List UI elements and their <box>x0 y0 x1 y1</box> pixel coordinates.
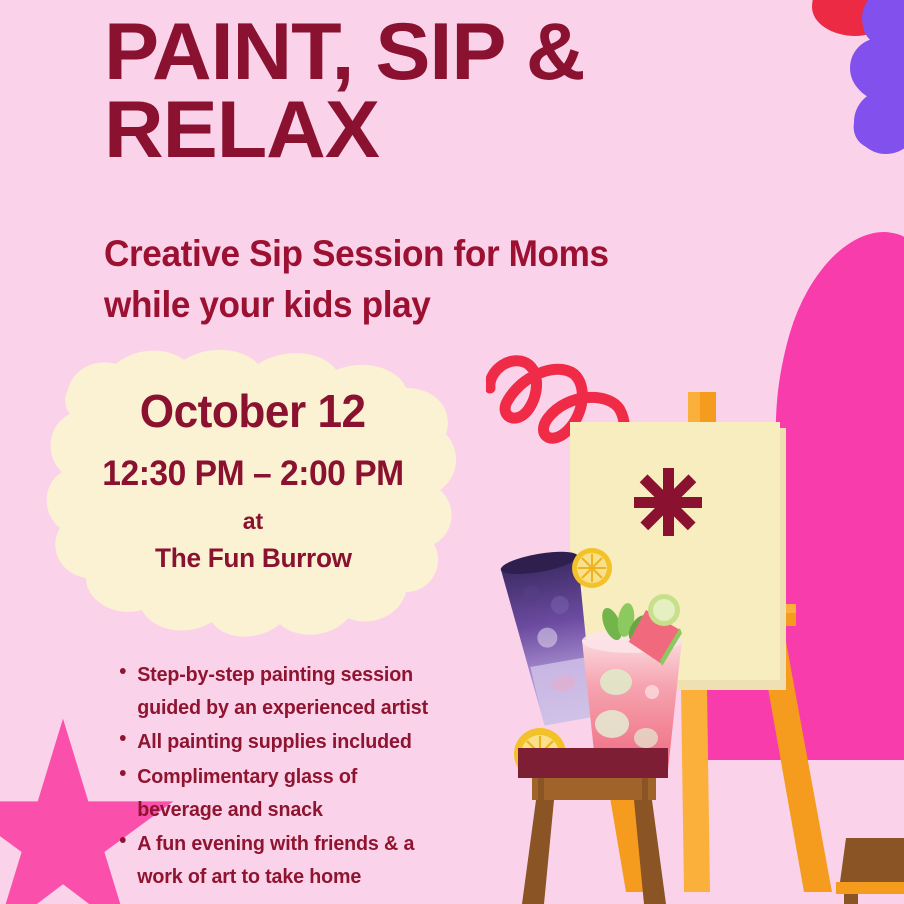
list-item: Complimentary glass of beverage and snac… <box>118 760 435 826</box>
bullet-dot-icon <box>120 837 126 843</box>
event-time: 12:30 PM – 2:00 PM <box>102 454 403 494</box>
list-item-label: A fun evening with friends & a work of a… <box>137 832 414 888</box>
event-date: October 12 <box>140 384 366 438</box>
event-venue: The Fun Burrow <box>155 543 352 574</box>
list-item: Step-by-step painting session guided by … <box>118 658 435 724</box>
page-subtitle: Creative Sip Session for Moms while your… <box>104 228 674 330</box>
page-title: PAINT, SIP & RELAX <box>104 14 736 170</box>
list-item-label: Complimentary glass of beverage and snac… <box>137 765 357 821</box>
features-list-ul: Step-by-step painting session guided by … <box>118 658 435 893</box>
lemon-garnish-icon <box>572 548 612 588</box>
list-item-label: All painting supplies included <box>137 730 412 753</box>
purple-squiggle-decoration <box>840 0 904 180</box>
list-item-label: Step-by-step painting session guided by … <box>137 663 428 719</box>
asterisk-starburst-icon <box>634 468 702 536</box>
poster-canvas: PAINT, SIP & RELAX Creative Sip Session … <box>0 0 904 904</box>
event-at-label: at <box>243 508 263 535</box>
bullet-dot-icon <box>120 668 126 674</box>
list-item: A fun evening with friends & a work of a… <box>118 827 435 893</box>
list-item: All painting supplies included <box>118 725 435 758</box>
stool-illustration <box>508 748 698 904</box>
lime-garnish-icon <box>648 594 680 626</box>
bullet-dot-icon <box>120 735 126 741</box>
cocktail-drinks-illustration <box>498 532 708 777</box>
wooden-chair-decoration <box>836 838 904 904</box>
event-details-card: October 12 12:30 PM – 2:00 PM at The Fun… <box>38 342 468 646</box>
features-list: Step-by-step painting session guided by … <box>118 658 435 894</box>
bullet-dot-icon <box>120 770 126 776</box>
